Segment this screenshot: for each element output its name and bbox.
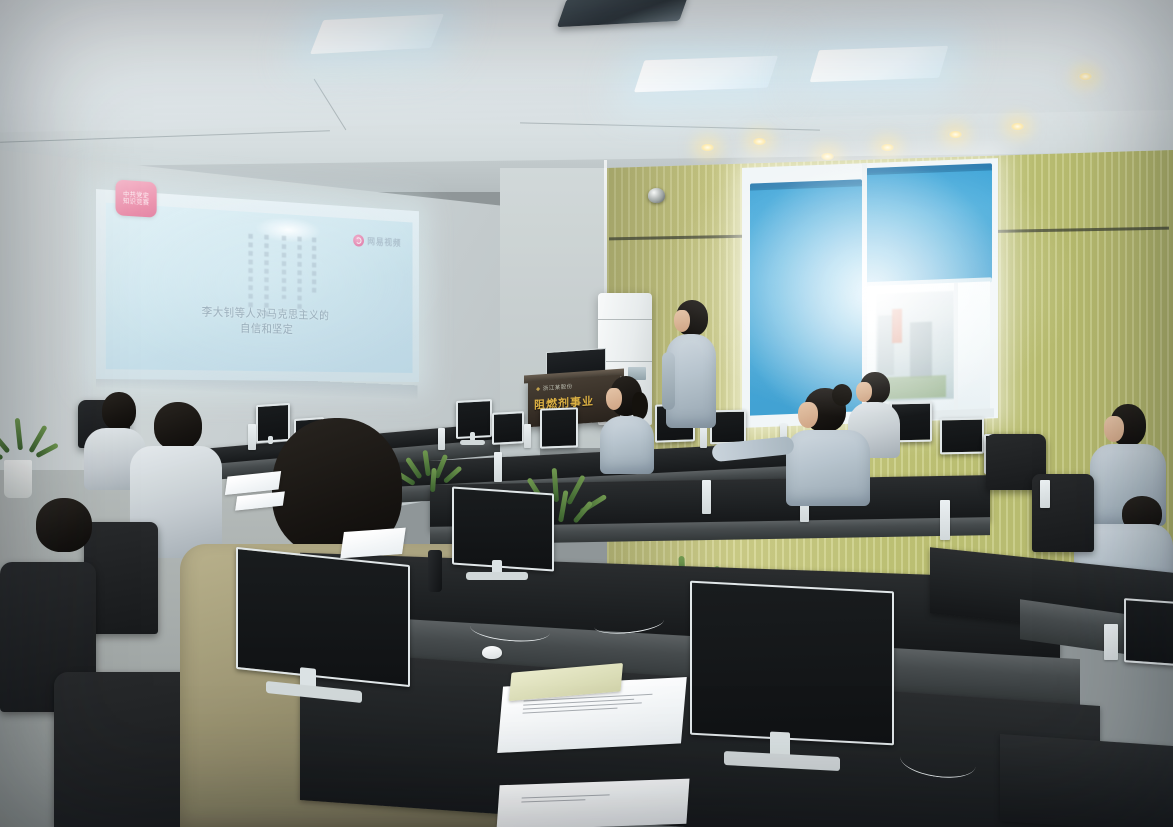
desk-front-panel (1000, 734, 1173, 827)
slide-corner-badge: 中共党史 知识竞赛 (116, 179, 157, 217)
desk-divider (1104, 624, 1118, 660)
window-mullion (954, 283, 958, 413)
water-bottle[interactable] (428, 550, 442, 592)
ceiling-panel-light (634, 56, 778, 93)
blind-roller-bar (750, 179, 862, 188)
dome-security-camera-icon (648, 188, 665, 203)
badge-line-2: 知识竞赛 (123, 198, 149, 207)
slide-text-column (297, 237, 301, 312)
watermark-label: 网易视频 (367, 234, 401, 249)
plant-leaf (566, 475, 585, 506)
document-paper[interactable] (496, 779, 689, 827)
plant-leaf (15, 418, 23, 450)
podium-logo-text: 浙江某股份 (543, 384, 573, 392)
logo-mark-icon: ◆ (536, 386, 541, 392)
corner-floor-plant (0, 418, 46, 488)
plant-leaf (0, 429, 10, 454)
slide-text-column (282, 236, 286, 299)
meeting-room-photo: 网易视频 李大钊等人对马克思主义的 自信和坚定 中共党史 知识竞赛 (0, 0, 1173, 827)
monitor (940, 418, 984, 455)
projected-slide: 网易视频 李大钊等人对马克思主义的 自信和坚定 (106, 203, 413, 373)
presenter-face (674, 310, 690, 332)
projection-screen: 网易视频 李大钊等人对马克思主义的 自信和坚定 中共党史 知识竞赛 (96, 189, 419, 382)
downlight-icon (752, 137, 767, 146)
slide-subtitle: 李大钊等人对马克思主义的 自信和坚定 (106, 301, 413, 341)
monitor (1124, 598, 1173, 666)
attendee-left-edge (0, 500, 96, 650)
attendee-body (786, 430, 870, 506)
slide-text-column (312, 238, 316, 294)
desk-divider (940, 500, 950, 540)
attendee-right-glasses (786, 388, 872, 504)
desk-divider (524, 424, 531, 448)
downlight-icon (948, 130, 963, 139)
attendee-face (798, 402, 818, 428)
plant-leaf (573, 500, 594, 523)
subtitle-line-2: 自信和坚定 (106, 318, 413, 342)
plant-pot (4, 460, 32, 498)
monitor (540, 407, 578, 448)
ac-seam (598, 319, 652, 320)
attendee-face (606, 388, 622, 410)
podium-company-logo: ◆浙江某股份 (536, 382, 573, 393)
roller-blind-right[interactable] (866, 167, 992, 284)
netease-watermark: 网易视频 (353, 233, 401, 249)
paper-text-lines (521, 792, 654, 805)
monitor (452, 486, 554, 571)
attendee-body (600, 416, 654, 474)
slide-text-column (248, 234, 252, 307)
attendee-hair-tuft (832, 384, 852, 406)
document-paper[interactable] (340, 528, 406, 559)
outdoor-red-banner (892, 309, 902, 343)
attendee-head (36, 498, 92, 552)
subtitle-line-1: 李大钊等人对马克思主义的 (202, 306, 330, 321)
blind-roller-bar (866, 163, 992, 173)
monitor (690, 581, 894, 746)
ceiling-panel-light (310, 14, 444, 54)
downlight-icon (1078, 72, 1093, 81)
ac-seam (598, 361, 652, 362)
play-circle-icon (353, 234, 364, 247)
outdoor-building (910, 322, 932, 379)
plant-leaf (558, 490, 568, 522)
presenter-arm (662, 352, 675, 410)
downlight-icon (700, 143, 715, 152)
downlight-icon (880, 143, 895, 152)
slide-text-column (264, 235, 268, 317)
ceiling-panel-light (810, 46, 949, 82)
computer-mouse[interactable] (482, 646, 502, 659)
attendee-face (1104, 416, 1124, 442)
downlight-icon (820, 152, 835, 161)
downlight-icon (1010, 122, 1025, 131)
desk-divider (1040, 480, 1050, 508)
presenter (660, 300, 722, 428)
desk-divider (702, 480, 711, 514)
attendee-center-woman (596, 376, 656, 468)
monitor (236, 547, 410, 687)
monitor-base (466, 572, 528, 580)
